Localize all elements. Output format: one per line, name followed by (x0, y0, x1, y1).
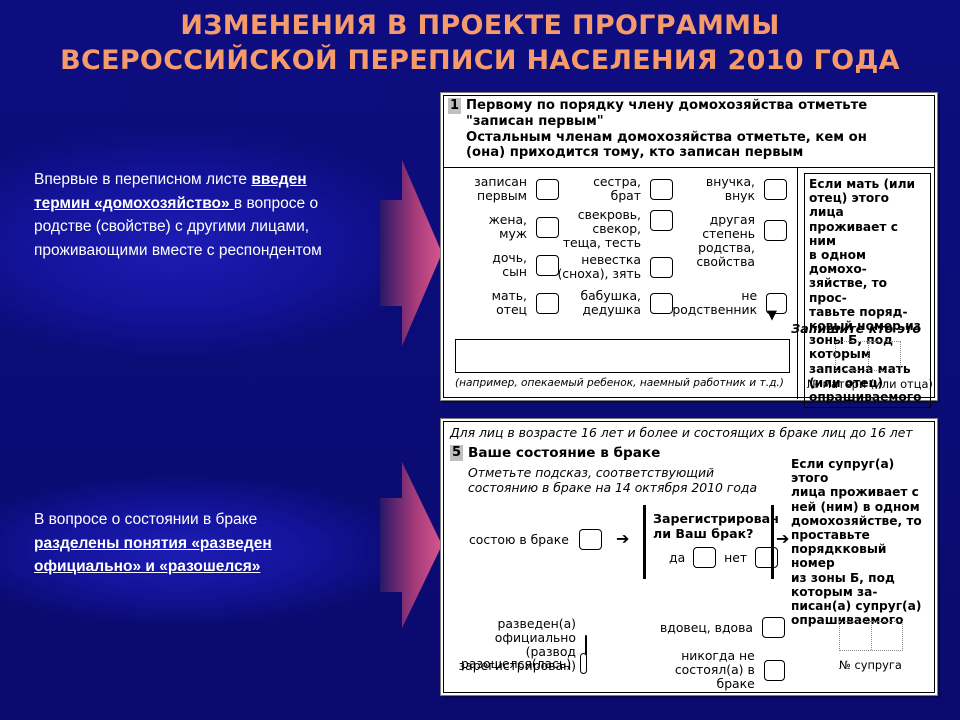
title-line-2: ВСЕРОССИЙСКОЙ ПЕРЕПИСИ НАСЕЛЕНИЯ 2010 ГО… (0, 43, 960, 78)
label-other-relation: другаястепеньродства,свойства (696, 213, 755, 269)
checkbox-recorded-first[interactable] (536, 179, 559, 200)
checkbox-parent[interactable] (536, 293, 559, 314)
panel2-top-rule: Для лиц в возрасте 16 лет и более и сост… (450, 425, 913, 440)
label-yes: да (669, 551, 685, 565)
panel1-heading-line-3: Остальным членам домохозяйства отметьте,… (466, 130, 931, 146)
checkbox-separated[interactable] (580, 653, 587, 674)
label-spouse: жена,муж (489, 213, 527, 241)
label-married: состою в браке (469, 533, 569, 547)
panel1-heading-line-2: "записан первым" (466, 114, 931, 130)
checkbox-child-in-law[interactable] (650, 257, 673, 278)
panel2-divider-2 (771, 505, 774, 579)
panel2-subheading: Отметьте подсказ, соответствующийсостоян… (468, 465, 757, 495)
panel1-row-recorded-first[interactable]: записанпервым (451, 175, 559, 203)
callout-household-term: Впервые в переписном листе введен термин… (34, 168, 364, 262)
panel1-row-child-in-law[interactable]: невестка(сноха), зять (553, 253, 673, 281)
block-arrow-right-1 (378, 158, 444, 348)
census-form-question-5: Для лиц в возрасте 16 лет и более и сост… (440, 418, 938, 696)
callout2-line-1: В вопросе о состоянии в браке (34, 508, 374, 532)
checkbox-other-relation[interactable] (764, 220, 787, 241)
label-in-laws: свекровь,свекор,теща, тесть (563, 208, 641, 250)
label-grandparent: бабушка,дедушка (580, 289, 641, 317)
panel2-heading: 5Ваше состояние в браке (450, 445, 660, 461)
checkbox-sibling[interactable] (650, 179, 673, 200)
registered-question: Зарегистрированли Ваш брак? (653, 511, 779, 541)
label-no: нет (724, 551, 747, 565)
panel1-row-grandparent[interactable]: бабушка,дедушка (559, 289, 673, 317)
label-widowed: вдовец, вдова (660, 621, 753, 635)
write-in-field[interactable] (455, 339, 790, 373)
callout-marital-status: В вопросе о состоянии в браке разделены … (34, 508, 374, 579)
panel1-heading: 1Первому по порядку члену домохозяйства … (448, 98, 931, 161)
checkbox-never-married[interactable] (764, 660, 785, 681)
panel1-row-in-laws[interactable]: свекровь,свекор,теща, тесть (553, 208, 673, 250)
label-non-relative: не родственник (663, 289, 757, 317)
page-title: ИЗМЕНЕНИЯ В ПРОЕКТЕ ПРОГРАММЫ ВСЕРОССИЙС… (0, 8, 960, 78)
panel2-row-married[interactable]: состою в браке (469, 529, 602, 550)
label-sibling: сестра,брат (593, 175, 641, 203)
panel1-row-spouse[interactable]: жена,муж (451, 213, 559, 241)
callout2-line-2: разделены понятия «разведен (34, 532, 374, 556)
panel1-divider (444, 167, 934, 168)
checkbox-in-laws[interactable] (650, 210, 673, 231)
callout2-line-3: официально» и «разошелся» (34, 555, 374, 579)
panel1-row-sibling[interactable]: сестра,брат (561, 175, 673, 203)
panel1-row-grandchild[interactable]: внучка,внук (677, 175, 787, 203)
arrow-right-icon-2: ➔ (776, 531, 789, 547)
label-child-in-law: невестка(сноха), зять (557, 253, 641, 281)
label-parent: мать,отец (492, 289, 527, 317)
checkbox-widowed[interactable] (762, 617, 785, 638)
panel2-row-never-married[interactable]: никогда несостоял(а) в браке (643, 649, 785, 691)
label-separated: разошелся(лась) (461, 657, 571, 671)
panel1-side-note: Если мать (или отец) этого лица проживае… (804, 173, 931, 408)
label-recorded-first: записанпервым (474, 175, 527, 203)
mother-number-label: № матери (или отца) (807, 378, 933, 390)
checkbox-grandchild[interactable] (764, 179, 787, 200)
label-never-married: никогда несостоял(а) в браке (643, 649, 755, 691)
question-number-badge-5: 5 (450, 445, 463, 461)
panel1-row-child[interactable]: дочь,сын (451, 251, 559, 279)
block-arrow-right-2 (378, 460, 444, 630)
panel2-row-separated[interactable]: разошелся(лась) (461, 653, 587, 674)
checkbox-no[interactable] (755, 547, 778, 568)
mother-number-field[interactable] (835, 341, 901, 371)
panel1-note-divider (797, 168, 798, 399)
title-line-1: ИЗМЕНЕНИЯ В ПРОЕКТЕ ПРОГРАММЫ (0, 8, 960, 43)
panel2-row-widowed[interactable]: вдовец, вдова (657, 617, 785, 638)
label-child: дочь,сын (492, 251, 527, 279)
panel2-row-yes[interactable]: да нет (669, 547, 778, 568)
panel1-row-parent[interactable]: мать,отец (451, 289, 559, 317)
spouse-number-field[interactable] (839, 621, 903, 651)
write-in-hint: (например, опекаемый ребенок, наемный ра… (455, 377, 784, 389)
spouse-number-label: № супруга (839, 659, 902, 671)
arrow-right-icon-1: ➔ (616, 531, 629, 547)
census-form-question-1: 1Первому по порядку члену домохозяйства … (440, 92, 938, 401)
checkbox-married[interactable] (579, 529, 602, 550)
panel1-heading-line-4: (она) приходится тому, кто записан первы… (466, 145, 931, 161)
slide-background: ИЗМЕНЕНИЯ В ПРОЕКТЕ ПРОГРАММЫ ВСЕРОССИЙС… (0, 0, 960, 720)
panel2-divider-1 (643, 505, 646, 579)
label-grandchild: внучка,внук (706, 175, 755, 203)
panel1-row-other-relation[interactable]: другаястепеньродства,свойства (677, 213, 787, 269)
down-arrow-icon: ▼ (767, 309, 777, 322)
callout1-seg1: Впервые в переписном листе (34, 171, 251, 188)
panel1-heading-line-1: Первому по порядку члену домохозяйства о… (466, 98, 867, 113)
question-number-badge: 1 (448, 98, 461, 114)
panel2-side-note: Если супруг(а) этого лица проживает с не… (791, 457, 933, 627)
checkbox-yes[interactable] (693, 547, 716, 568)
